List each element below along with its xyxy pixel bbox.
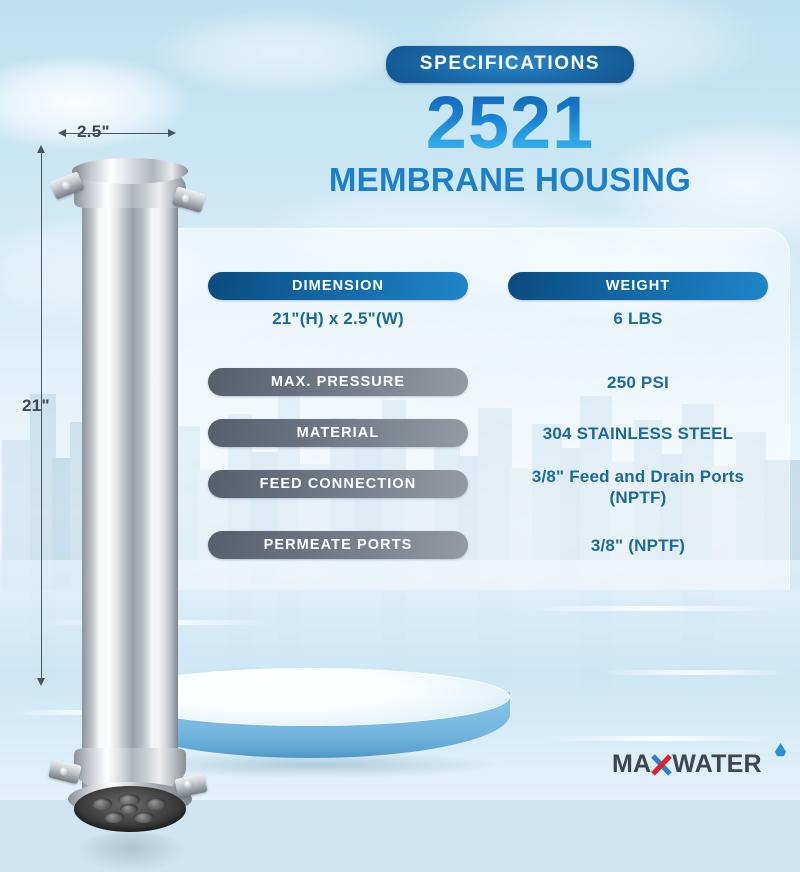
spec-value-max-pressure: 250 PSI — [508, 372, 768, 393]
clamp-bolt-icon — [182, 194, 191, 203]
page-title-model-number: 2521 — [250, 87, 770, 160]
logo-text-part1: MA — [612, 750, 651, 778]
spec-value-permeate-ports: 3/8" (NPTF) — [508, 535, 768, 556]
logo-x-svg — [651, 752, 672, 777]
header: SPECIFICATIONS 2521 MEMBRANE HOUSING — [250, 46, 770, 199]
port-hole-center — [120, 804, 138, 814]
housing-end-cap-ports — [74, 786, 186, 832]
clamp-bolt-icon — [60, 767, 69, 776]
spec-label-feed-connection: FEED CONNECTION — [208, 470, 468, 498]
spec-label-permeate-ports: PERMEATE PORTS — [208, 531, 468, 559]
housing-top-lip — [72, 158, 188, 184]
tube-highlight — [94, 186, 107, 800]
spec-value-material: 304 STAINLESS STEEL — [508, 423, 768, 444]
spec-label-dimension: DIMENSION — [208, 272, 468, 300]
arrow-up-icon — [37, 145, 45, 153]
tube-highlight — [148, 186, 157, 800]
spec-value-feed-connection: 3/8" Feed and Drain Ports (NPTF) — [508, 466, 768, 509]
height-dimension-line — [41, 152, 42, 684]
spec-label-weight: WEIGHT — [508, 272, 768, 300]
spec-value-weight: 6 LBS — [508, 308, 768, 329]
brand-logo-maxwater: MAWATER — [612, 752, 762, 777]
spec-label-max-pressure: MAX. PRESSURE — [208, 368, 468, 396]
page-subtitle-product-name: MEMBRANE HOUSING — [250, 161, 770, 199]
height-dimension-label: 21" — [22, 396, 50, 416]
product-reflection — [76, 832, 186, 872]
logo-x-icon — [651, 752, 672, 777]
specifications-badge: SPECIFICATIONS — [386, 46, 634, 83]
port-hole — [104, 812, 124, 823]
logo-text: MAWATER — [612, 752, 762, 777]
port-hole — [134, 812, 154, 823]
arrow-right-icon — [168, 129, 176, 137]
logo-text-part2: WATER — [672, 750, 761, 778]
width-dimension-label: 2.5" — [77, 122, 110, 142]
arrow-left-icon — [58, 129, 66, 137]
clamp-bolt-icon — [184, 780, 193, 789]
product-image-membrane-housing — [56, 150, 206, 710]
arrow-down-icon — [37, 678, 45, 686]
spec-label-material: MATERIAL — [208, 419, 468, 447]
spec-value-dimension: 21"(H) x 2.5"(W) — [208, 308, 468, 329]
clamp-bolt-icon — [62, 181, 71, 190]
